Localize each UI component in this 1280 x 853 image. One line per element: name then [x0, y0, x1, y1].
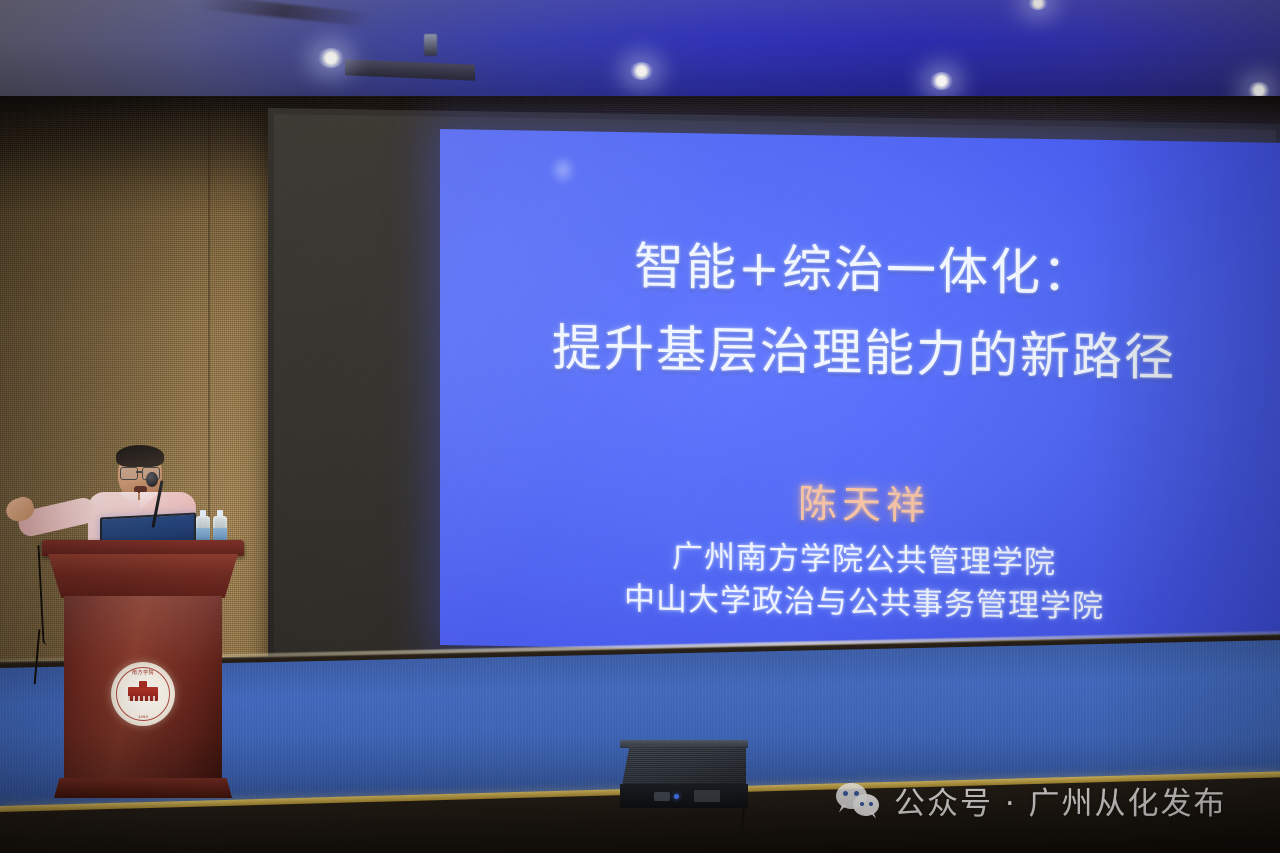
slide-glare — [440, 129, 1280, 659]
stage-monitor-speaker — [620, 740, 748, 808]
lectern: 南方学院 1999 — [52, 540, 234, 805]
speaker-power-led-icon — [674, 794, 679, 799]
institution-emblem-icon: 南方学院 1999 — [111, 662, 175, 726]
lectern-head — [48, 554, 238, 598]
presenter-hair — [116, 445, 164, 467]
lectern-base — [54, 778, 232, 798]
speaker-cabinet — [620, 784, 748, 808]
speaker-handle — [654, 792, 670, 801]
microphone-icon — [146, 472, 158, 487]
presentation-slide: 智能+综治一体化： 提升基层治理能力的新路径 陈天祥 广州南方学院公共管理学院 … — [440, 129, 1280, 659]
downlight-icon — [930, 72, 953, 90]
presenter-mouth — [134, 486, 147, 493]
lectern-top — [42, 540, 244, 556]
speaker-port — [694, 790, 720, 802]
lectern-body: 南方学院 1999 — [64, 596, 222, 782]
downlight-icon — [318, 48, 344, 68]
speaker-grille-texture — [622, 746, 746, 786]
downlight-icon — [630, 62, 653, 80]
photo-scene: 智能+综治一体化： 提升基层治理能力的新路径 陈天祥 广州南方学院公共管理学院 … — [0, 0, 1280, 853]
speaker-grille — [622, 746, 746, 786]
